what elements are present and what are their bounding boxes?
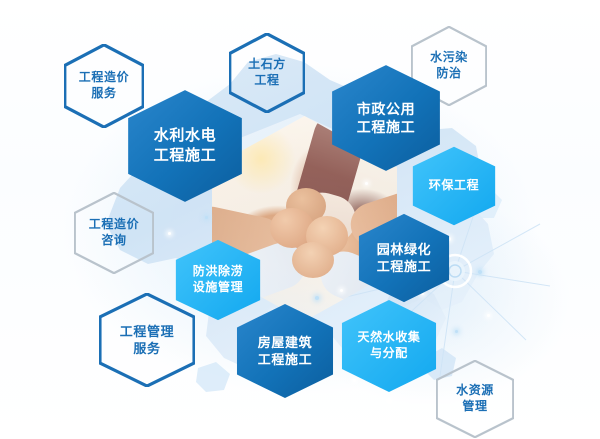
hex-badge-label: 园林绿化 工程施工 [373, 241, 435, 275]
hex-badge-natural-water-collection-distribution[interactable]: 天然水收集 与分配 [341, 299, 437, 393]
sparkle-dot [340, 289, 343, 292]
hex-badge-engineering-cost-consulting[interactable]: 工程造价 咨询 [74, 192, 154, 274]
hex-badge-water-conservancy-hydropower-construction[interactable]: 水利水电 工程施工 [127, 89, 243, 203]
hex-badge-label: 房屋建筑 工程施工 [254, 334, 316, 368]
hex-badge-label: 工程管理 服务 [116, 323, 178, 357]
hex-badge-label: 市政公用 工程施工 [353, 100, 419, 137]
hex-badge-label: 土石方 工程 [244, 57, 290, 89]
sparkle-dot [168, 232, 171, 235]
sparkle-dot [387, 399, 391, 403]
hex-badge-label: 防洪除涝 设施管理 [189, 264, 247, 296]
sparkle-dot [487, 314, 490, 317]
hex-badge-label: 天然水收集 与分配 [353, 330, 424, 362]
hex-badge-landscaping-construction[interactable]: 园林绿化 工程施工 [358, 213, 450, 303]
hex-badge-building-construction[interactable]: 房屋建筑 工程施工 [236, 303, 334, 399]
hex-badge-label: 水利水电 工程施工 [150, 126, 220, 166]
hex-badge-water-resources-management[interactable]: 水资源 管理 [436, 360, 514, 438]
sparkle-dot [478, 270, 482, 274]
hex-badge-label: 环保工程 [425, 178, 483, 194]
sparkle-dot [365, 182, 368, 185]
infographic-canvas: 工程造价 服务 土石方 工程 水污染 防治 [0, 0, 600, 439]
sparkle-dot [205, 216, 208, 219]
hex-badge-label: 水污染 防治 [426, 50, 472, 82]
hex-badge-label: 工程造价 咨询 [85, 217, 143, 249]
sparkle-dot [455, 330, 458, 333]
hex-badge-label: 工程造价 服务 [75, 70, 133, 102]
sparkle-dot [315, 296, 319, 300]
hex-badge-label: 水资源 管理 [452, 383, 498, 415]
hex-badge-engineering-management-service[interactable]: 工程管理 服务 [99, 293, 195, 387]
